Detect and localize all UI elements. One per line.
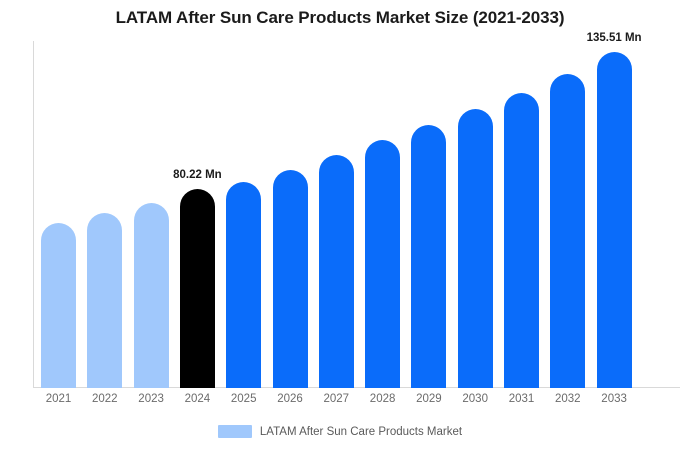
chart-legend: LATAM After Sun Care Products Market xyxy=(0,425,680,438)
bar-2022[interactable] xyxy=(87,213,122,388)
bar-2031[interactable] xyxy=(504,93,539,388)
chart-container: LATAM After Sun Care Products Market Siz… xyxy=(0,0,680,450)
y-axis-line xyxy=(33,41,34,388)
legend-label: LATAM After Sun Care Products Market xyxy=(260,426,462,438)
value-label-2024: 80.22 Mn xyxy=(173,169,222,181)
bar-2029[interactable] xyxy=(411,125,446,388)
bar-2028[interactable] xyxy=(365,140,400,388)
bar-2027[interactable] xyxy=(319,155,354,388)
value-label-2033: 135.51 Mn xyxy=(587,32,642,44)
bar-2021[interactable] xyxy=(41,223,76,388)
chart-title: LATAM After Sun Care Products Market Siz… xyxy=(0,8,680,28)
bar-2033[interactable] xyxy=(597,52,632,388)
bar-2023[interactable] xyxy=(134,203,169,388)
legend-swatch xyxy=(218,425,252,438)
x-axis-tick-label-2033: 2033 xyxy=(584,393,644,405)
bar-2025[interactable] xyxy=(226,182,261,388)
plot-area: 020406080100120140 202120222023202420252… xyxy=(33,41,680,388)
bar-2024[interactable] xyxy=(180,189,215,388)
bar-2030[interactable] xyxy=(458,109,493,388)
bar-2032[interactable] xyxy=(550,74,585,388)
bar-2026[interactable] xyxy=(273,170,308,388)
